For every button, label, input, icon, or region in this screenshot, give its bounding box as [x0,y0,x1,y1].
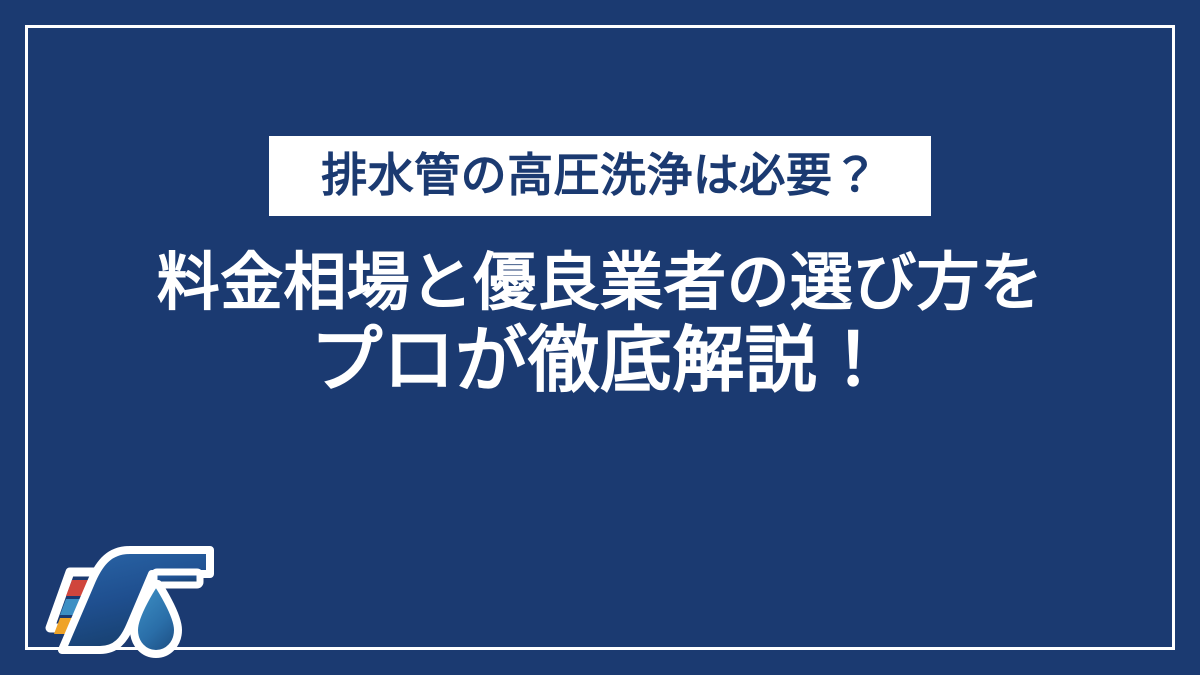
page-title: 料金相場と優良業者の選び方を プロが徹底解説！ [157,250,1043,399]
page-title-line-2: プロが徹底解説！ [157,323,1043,399]
headline-badge: 排水管の高圧洗浄は必要？ [269,136,931,216]
brand-logo [42,528,222,658]
eyecatch-banner: 排水管の高圧洗浄は必要？ 料金相場と優良業者の選び方を プロが徹底解説！ [0,0,1200,675]
page-title-line-1: 料金相場と優良業者の選び方を [157,250,1043,317]
